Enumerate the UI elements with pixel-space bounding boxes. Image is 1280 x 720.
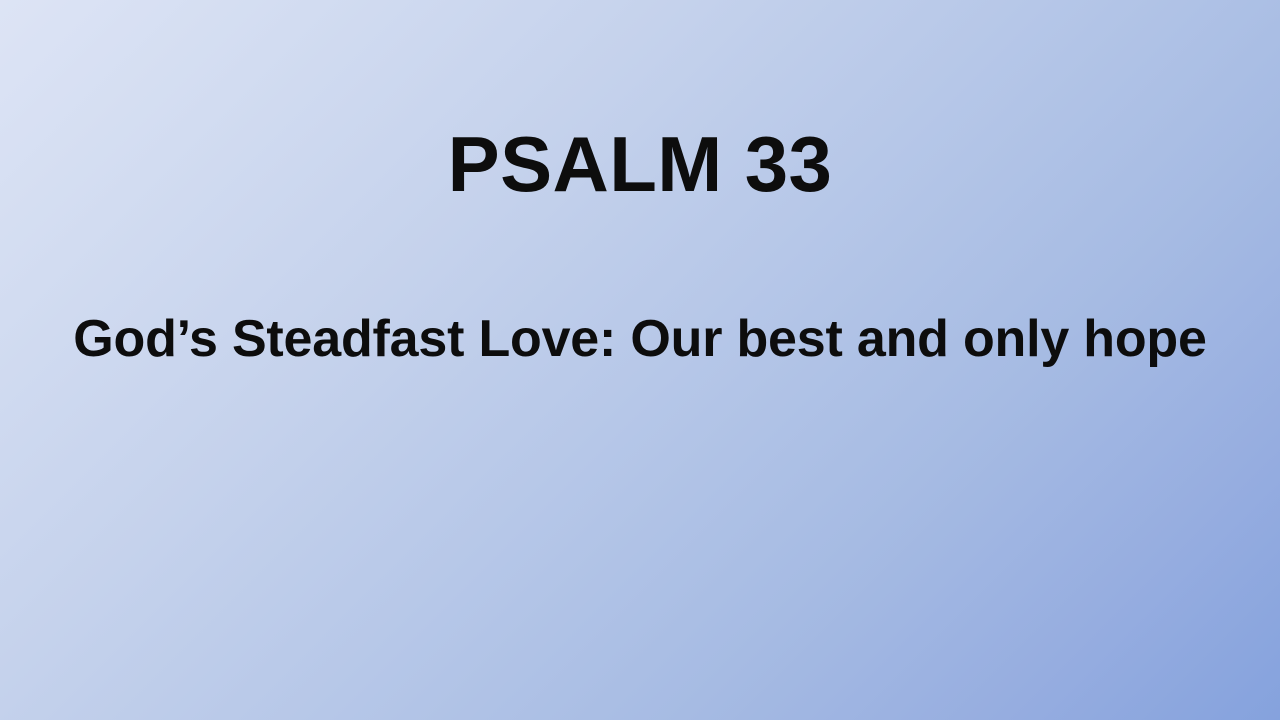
slide-title: PSALM 33 — [64, 118, 1216, 210]
slide-subtitle: God’s Steadfast Love: Our best and only … — [40, 308, 1240, 370]
slide-content-area: PSALM 33 God’s Steadfast Love: Our best … — [0, 0, 1280, 720]
presentation-slide: PSALM 33 God’s Steadfast Love: Our best … — [0, 0, 1280, 720]
title-placeholder[interactable]: PSALM 33 — [64, 118, 1216, 210]
subtitle-placeholder[interactable]: God’s Steadfast Love: Our best and only … — [40, 308, 1240, 370]
slide-body-empty-area — [64, 400, 1216, 680]
